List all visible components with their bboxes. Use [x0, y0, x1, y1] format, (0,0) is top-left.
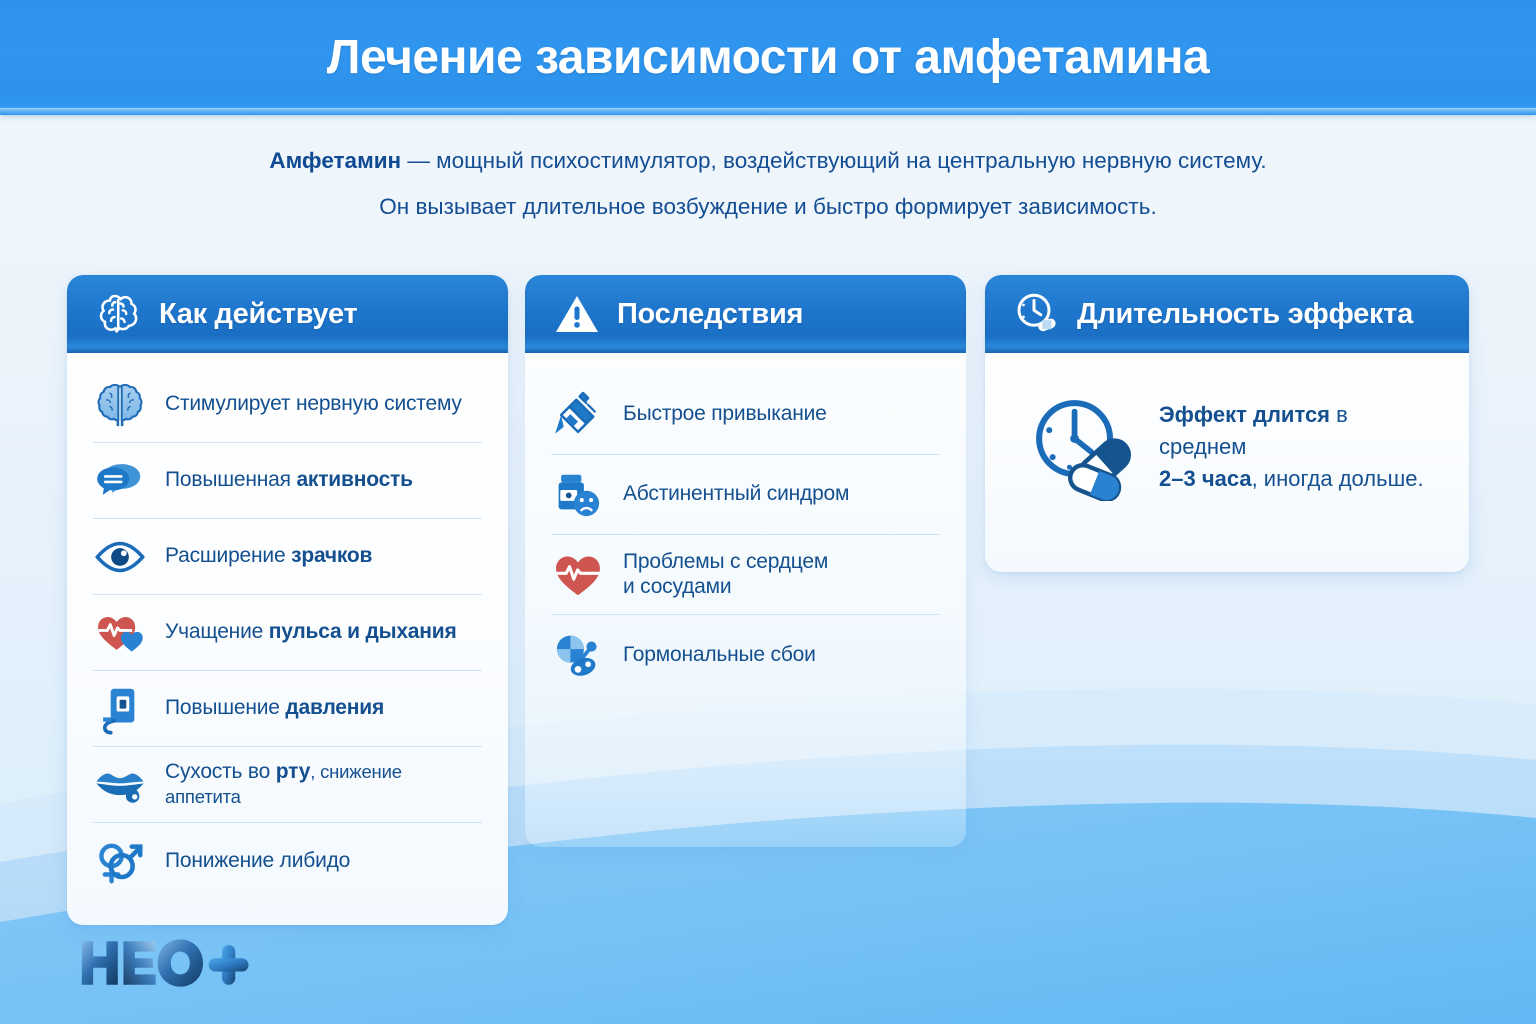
- list-item-text: Быстрое привыкание: [623, 402, 827, 425]
- intro-line-1-rest: — мощный психостимулятор, воздействующий…: [401, 148, 1267, 173]
- pill-bottle-sad-face-icon: [551, 468, 605, 522]
- intro-text: Амфетамин — мощный психостимулятор, возд…: [0, 150, 1536, 241]
- list-item-text: Гормональные сбои: [623, 643, 816, 666]
- card-consequences-title: Последствия: [617, 298, 803, 331]
- list-item-label: Расширение зрачков: [165, 544, 372, 569]
- card-how-body: Стимулирует нервную систему Повышенная а…: [67, 353, 508, 925]
- list-item: Расширение зрачков: [93, 519, 482, 595]
- header-sheen: [0, 108, 1536, 111]
- hormones-molecule-icon: [551, 628, 605, 682]
- lips-drop-icon: [93, 758, 147, 812]
- list-item: Стимулирует нервную систему: [93, 367, 482, 443]
- card-consequences: Последствия Быстрое: [525, 275, 966, 847]
- duration-normal-2: , иногда дольше.: [1252, 466, 1424, 491]
- infographic-poster: Лечение зависимости от амфетамина Амфета…: [0, 0, 1536, 1024]
- list-item: Понижение либидо: [93, 823, 482, 899]
- list-item-text: Повышенная: [165, 468, 296, 491]
- list-item-text: Проблемы с сердцеми сосудами: [623, 550, 828, 598]
- list-item-emphasis: пульса и дыхания: [269, 620, 457, 643]
- list-item: Абстинентный синдром: [551, 455, 940, 535]
- card-how-title: Как действует: [159, 298, 357, 331]
- page-title: Лечение зависимости от амфетамина: [0, 34, 1536, 82]
- list-item-emphasis: активность: [296, 468, 412, 491]
- list-item-label: Быстрое привыкание: [623, 402, 827, 427]
- list-item-label: Гормональные сбои: [623, 643, 816, 668]
- gender-symbols-icon: [93, 834, 147, 888]
- brain-icon: [93, 378, 147, 432]
- list-item-emphasis: рту: [276, 760, 310, 783]
- list-item-label: Абстинентный синдром: [623, 482, 849, 507]
- card-duration-header: Длительность эффекта: [985, 275, 1469, 353]
- list-item: Повышенная активность: [93, 443, 482, 519]
- warning-triangle-icon: [553, 290, 601, 338]
- list-item: Быстрое привыкание: [551, 375, 940, 455]
- heart-ecg-icon: [551, 548, 605, 602]
- neo-plus-logo: [78, 932, 258, 994]
- list-item-label: Понижение либидо: [165, 849, 350, 874]
- card-consequences-body: Быстрое привыкание Аб: [525, 353, 966, 717]
- card-duration-body: Эффект длится в среднем 2–3 часа, иногда…: [985, 353, 1469, 547]
- intro-line-2: Он вызывает длительное возбуждение и быс…: [0, 196, 1536, 219]
- list-item: Повышение давления: [93, 671, 482, 747]
- list-item-emphasis: зрачков: [291, 544, 372, 567]
- list-item: Проблемы с сердцеми сосудами: [551, 535, 940, 615]
- list-item-label: Учащение пульса и дыхания: [165, 620, 457, 645]
- list-item-label: Повышение давления: [165, 696, 384, 721]
- clock-pills-icon: [1013, 290, 1061, 338]
- list-item-text: Стимулирует нервную систему: [165, 392, 462, 415]
- duration-line-1: Эффект длится в среднем: [1159, 399, 1435, 463]
- syringe-icon: [551, 388, 605, 442]
- card-how-header: Как действует: [67, 275, 508, 353]
- clock-pills-large-icon: [1029, 393, 1137, 501]
- eye-icon: [93, 530, 147, 584]
- card-duration: Длительность эффекта: [985, 275, 1469, 572]
- neo-plus-logo-mark: [78, 932, 258, 994]
- list-item-text: Понижение либидо: [165, 849, 350, 872]
- list-item: Гормональные сбои: [551, 615, 940, 695]
- list-item-label: Сухость во рту, снижение аппетита: [165, 760, 482, 810]
- list-item-text: Повышение: [165, 696, 285, 719]
- card-duration-title: Длительность эффекта: [1077, 298, 1413, 331]
- list-item: Учащение пульса и дыхания: [93, 595, 482, 671]
- list-item: Сухость во рту, снижение аппетита: [93, 747, 482, 823]
- list-item-text: Учащение: [165, 620, 269, 643]
- list-item-text: Расширение: [165, 544, 291, 567]
- cards-container: Как действует Стимулирует нервную сис: [0, 275, 1536, 975]
- list-item-label: Проблемы с сердцеми сосудами: [623, 550, 828, 600]
- list-item-label: Повышенная активность: [165, 468, 413, 493]
- card-consequences-header: Последствия: [525, 275, 966, 353]
- hearts-pulse-icon: [93, 606, 147, 660]
- list-item-emphasis: давления: [285, 696, 384, 719]
- duration-text: Эффект длится в среднем 2–3 часа, иногда…: [1159, 399, 1435, 495]
- duration-emphasis-2: 2–3 часа: [1159, 466, 1252, 491]
- header-band: Лечение зависимости от амфетамина: [0, 0, 1536, 115]
- card-how-it-works: Как действует Стимулирует нервную сис: [67, 275, 508, 925]
- brain-icon: [95, 290, 143, 338]
- list-item-text: Абстинентный синдром: [623, 482, 849, 505]
- blood-pressure-monitor-icon: [93, 682, 147, 736]
- intro-line-1: Амфетамин — мощный психостимулятор, возд…: [0, 150, 1536, 173]
- intro-term: Амфетамин: [269, 148, 401, 173]
- duration-line-2: 2–3 часа, иногда дольше.: [1159, 463, 1435, 495]
- list-item-label: Стимулирует нервную систему: [165, 392, 462, 417]
- duration-emphasis-1: Эффект длится: [1159, 402, 1330, 427]
- speech-bubbles-icon: [93, 454, 147, 508]
- list-item-text: Сухость во: [165, 760, 276, 783]
